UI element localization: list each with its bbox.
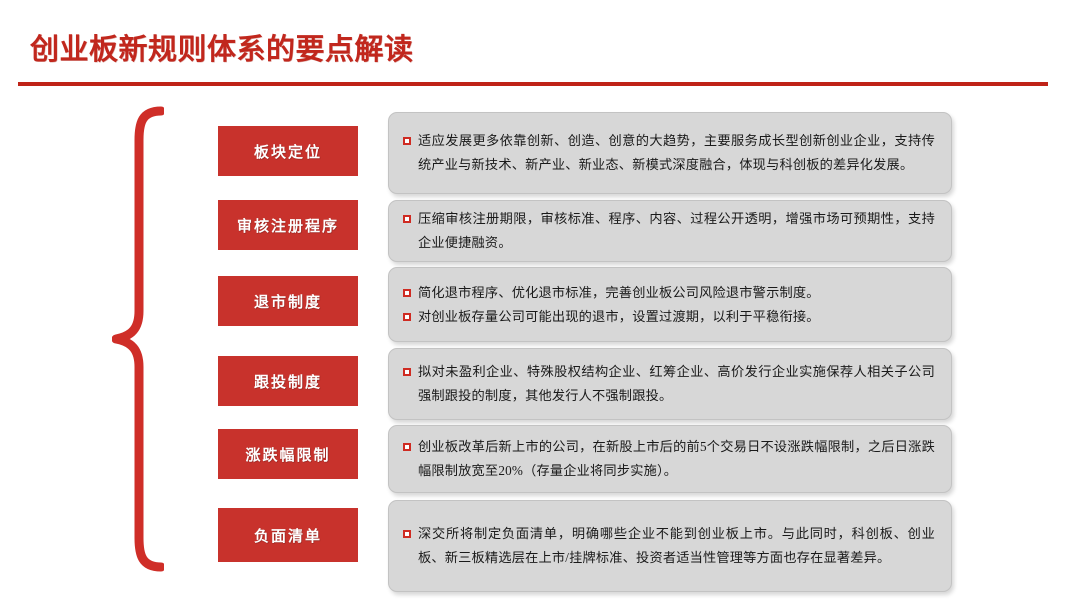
square-bullet-icon [403, 137, 411, 145]
label-chip-5[interactable]: 涨跌幅限制 [218, 429, 358, 479]
square-bullet-icon [403, 530, 411, 538]
slide-root: 创业板新规则体系的要点解读 板块定位审核注册程序退市制度跟投制度涨跌幅限制负面清… [0, 0, 1066, 600]
bullet-text: 创业板改革后新上市的公司，在新股上市后的前5个交易日不设涨跌幅限制，之后日涨跌幅… [418, 435, 935, 483]
square-bullet-icon [403, 443, 411, 451]
bullet-item: 深交所将制定负面清单，明确哪些企业不能到创业板上市。与此同时，科创板、创业板、新… [403, 522, 935, 570]
bullet-item: 简化退市程序、优化退市标准，完善创业板公司风险退市警示制度。 [403, 281, 935, 305]
square-bullet-icon [403, 368, 411, 376]
label-chip-text: 退市制度 [254, 291, 322, 312]
content-card-5: 创业板改革后新上市的公司，在新股上市后的前5个交易日不设涨跌幅限制，之后日涨跌幅… [388, 425, 952, 493]
bullet-item: 对创业板存量公司可能出现的退市，设置过渡期，以利于平稳衔接。 [403, 305, 935, 329]
content-card-4: 拟对未盈利企业、特殊股权结构企业、红筹企业、高价发行企业实施保荐人相关子公司强制… [388, 348, 952, 420]
bullet-item: 压缩审核注册期限，审核标准、程序、内容、过程公开透明，增强市场可预期性，支持企业… [403, 207, 935, 255]
label-chip-3[interactable]: 退市制度 [218, 276, 358, 326]
label-chip-text: 跟投制度 [254, 371, 322, 392]
square-bullet-icon [403, 289, 411, 297]
page-title: 创业板新规则体系的要点解读 [30, 26, 414, 68]
content-card-6: 深交所将制定负面清单，明确哪些企业不能到创业板上市。与此同时，科创板、创业板、新… [388, 500, 952, 592]
title-divider [18, 82, 1048, 86]
bullet-text: 压缩审核注册期限，审核标准、程序、内容、过程公开透明，增强市场可预期性，支持企业… [418, 207, 935, 255]
bullet-text: 拟对未盈利企业、特殊股权结构企业、红筹企业、高价发行企业实施保荐人相关子公司强制… [418, 360, 935, 408]
label-chip-4[interactable]: 跟投制度 [218, 356, 358, 406]
bullet-item: 适应发展更多依靠创新、创造、创意的大趋势，主要服务成长型创新创业企业，支持传统产… [403, 129, 935, 177]
square-bullet-icon [403, 313, 411, 321]
label-chip-text: 审核注册程序 [237, 215, 339, 236]
bullet-item: 创业板改革后新上市的公司，在新股上市后的前5个交易日不设涨跌幅限制，之后日涨跌幅… [403, 435, 935, 483]
content-card-1: 适应发展更多依靠创新、创造、创意的大趋势，主要服务成长型创新创业企业，支持传统产… [388, 112, 952, 194]
bullet-text: 深交所将制定负面清单，明确哪些企业不能到创业板上市。与此同时，科创板、创业板、新… [418, 522, 935, 570]
content-card-2: 压缩审核注册期限，审核标准、程序、内容、过程公开透明，增强市场可预期性，支持企业… [388, 200, 952, 262]
label-chip-text: 涨跌幅限制 [245, 444, 330, 465]
label-chip-6[interactable]: 负面清单 [218, 508, 358, 562]
left-curly-brace-icon [112, 106, 164, 572]
bullet-text: 简化退市程序、优化退市标准，完善创业板公司风险退市警示制度。 [418, 281, 935, 305]
bullet-text: 对创业板存量公司可能出现的退市，设置过渡期，以利于平稳衔接。 [418, 305, 935, 329]
content-card-3: 简化退市程序、优化退市标准，完善创业板公司风险退市警示制度。对创业板存量公司可能… [388, 267, 952, 342]
square-bullet-icon [403, 215, 411, 223]
bullet-text: 适应发展更多依靠创新、创造、创意的大趋势，主要服务成长型创新创业企业，支持传统产… [418, 129, 935, 177]
label-chip-2[interactable]: 审核注册程序 [218, 200, 358, 250]
label-chip-text: 板块定位 [254, 141, 322, 162]
label-chip-1[interactable]: 板块定位 [218, 126, 358, 176]
label-chip-text: 负面清单 [254, 525, 322, 546]
bullet-item: 拟对未盈利企业、特殊股权结构企业、红筹企业、高价发行企业实施保荐人相关子公司强制… [403, 360, 935, 408]
